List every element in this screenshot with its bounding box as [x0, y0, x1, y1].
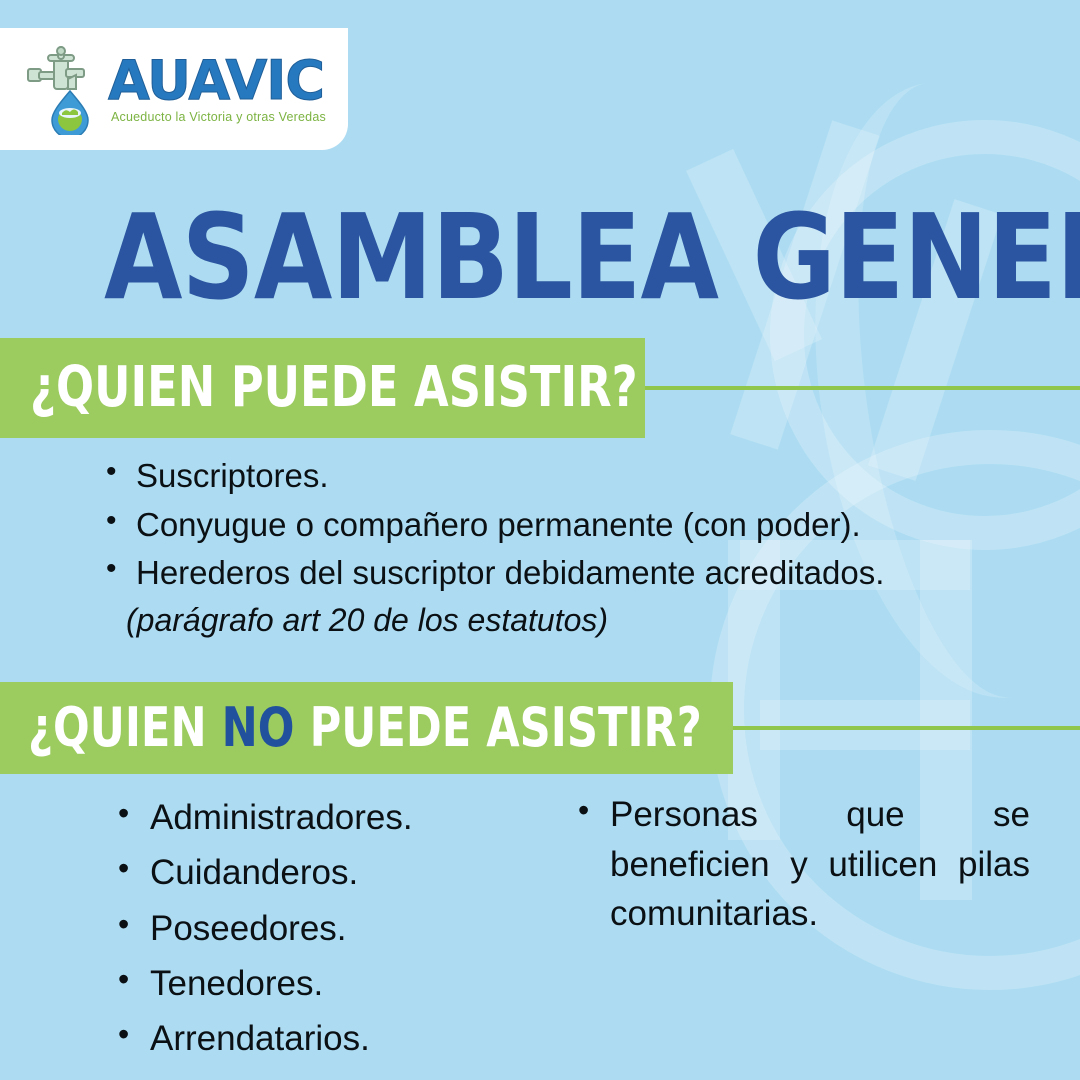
who-cannot-attend-left-column: Administradores. Cuidanderos. Poseedores…: [110, 790, 530, 1066]
list-item: Cuidanderos.: [110, 845, 530, 900]
who-can-attend-list: Suscriptores. Conyugue o compañero perma…: [96, 452, 1056, 641]
section-banner-who-cannot-attend: ¿QUIEN NO PUEDE ASISTIR?: [0, 682, 733, 774]
list-item: Poseedores.: [110, 901, 530, 956]
page-title: ASAMBLEA GENERAL: [104, 198, 1080, 316]
who-cannot-attend-right-column: Personas que se beneficien y utilicen pi…: [570, 790, 1030, 1066]
list-item: Herederos del suscriptor debidamente acr…: [96, 549, 1056, 598]
list-item: Suscriptores.: [96, 452, 1056, 501]
list-item: Personas que se beneficien y utilicen pi…: [570, 790, 1030, 939]
who-cannot-attend-lists: Administradores. Cuidanderos. Poseedores…: [110, 790, 1040, 1066]
banner-2-suffix: PUEDE ASISTIR?: [295, 696, 702, 759]
logo-card: AUAVIC Acueducto la Victoria y otras Ver…: [0, 28, 348, 150]
banner-2-prefix: ¿QUIEN: [28, 696, 222, 759]
banner-1-text: ¿QUIEN PUEDE ASISTIR?: [30, 355, 638, 420]
poster-canvas: AUAVIC Acueducto la Victoria y otras Ver…: [0, 0, 1080, 1080]
logo-tagline: Acueducto la Victoria y otras Veredas: [111, 110, 326, 124]
list-item: Conyugue o compañero permanente (con pod…: [96, 501, 1056, 550]
list-item: Arrendatarios.: [110, 1011, 530, 1066]
green-rule-2: [733, 726, 1080, 730]
section-banner-label-1: ¿QUIEN PUEDE ASISTIR?: [30, 360, 638, 416]
list-item: Tenedores.: [110, 956, 530, 1011]
banner-2-highlight: NO: [222, 696, 295, 759]
section-banner-who-can-attend: ¿QUIEN PUEDE ASISTIR?: [0, 338, 645, 438]
faucet-waterdrop-icon: [24, 43, 102, 135]
logo-wordmark: AUAVIC: [108, 54, 326, 108]
section-banner-label-2: ¿QUIEN NO PUEDE ASISTIR?: [28, 701, 702, 755]
list-item: Administradores.: [110, 790, 530, 845]
statute-note: (parágrafo art 20 de los estatutos): [126, 600, 1056, 642]
green-rule-1: [645, 386, 1080, 390]
